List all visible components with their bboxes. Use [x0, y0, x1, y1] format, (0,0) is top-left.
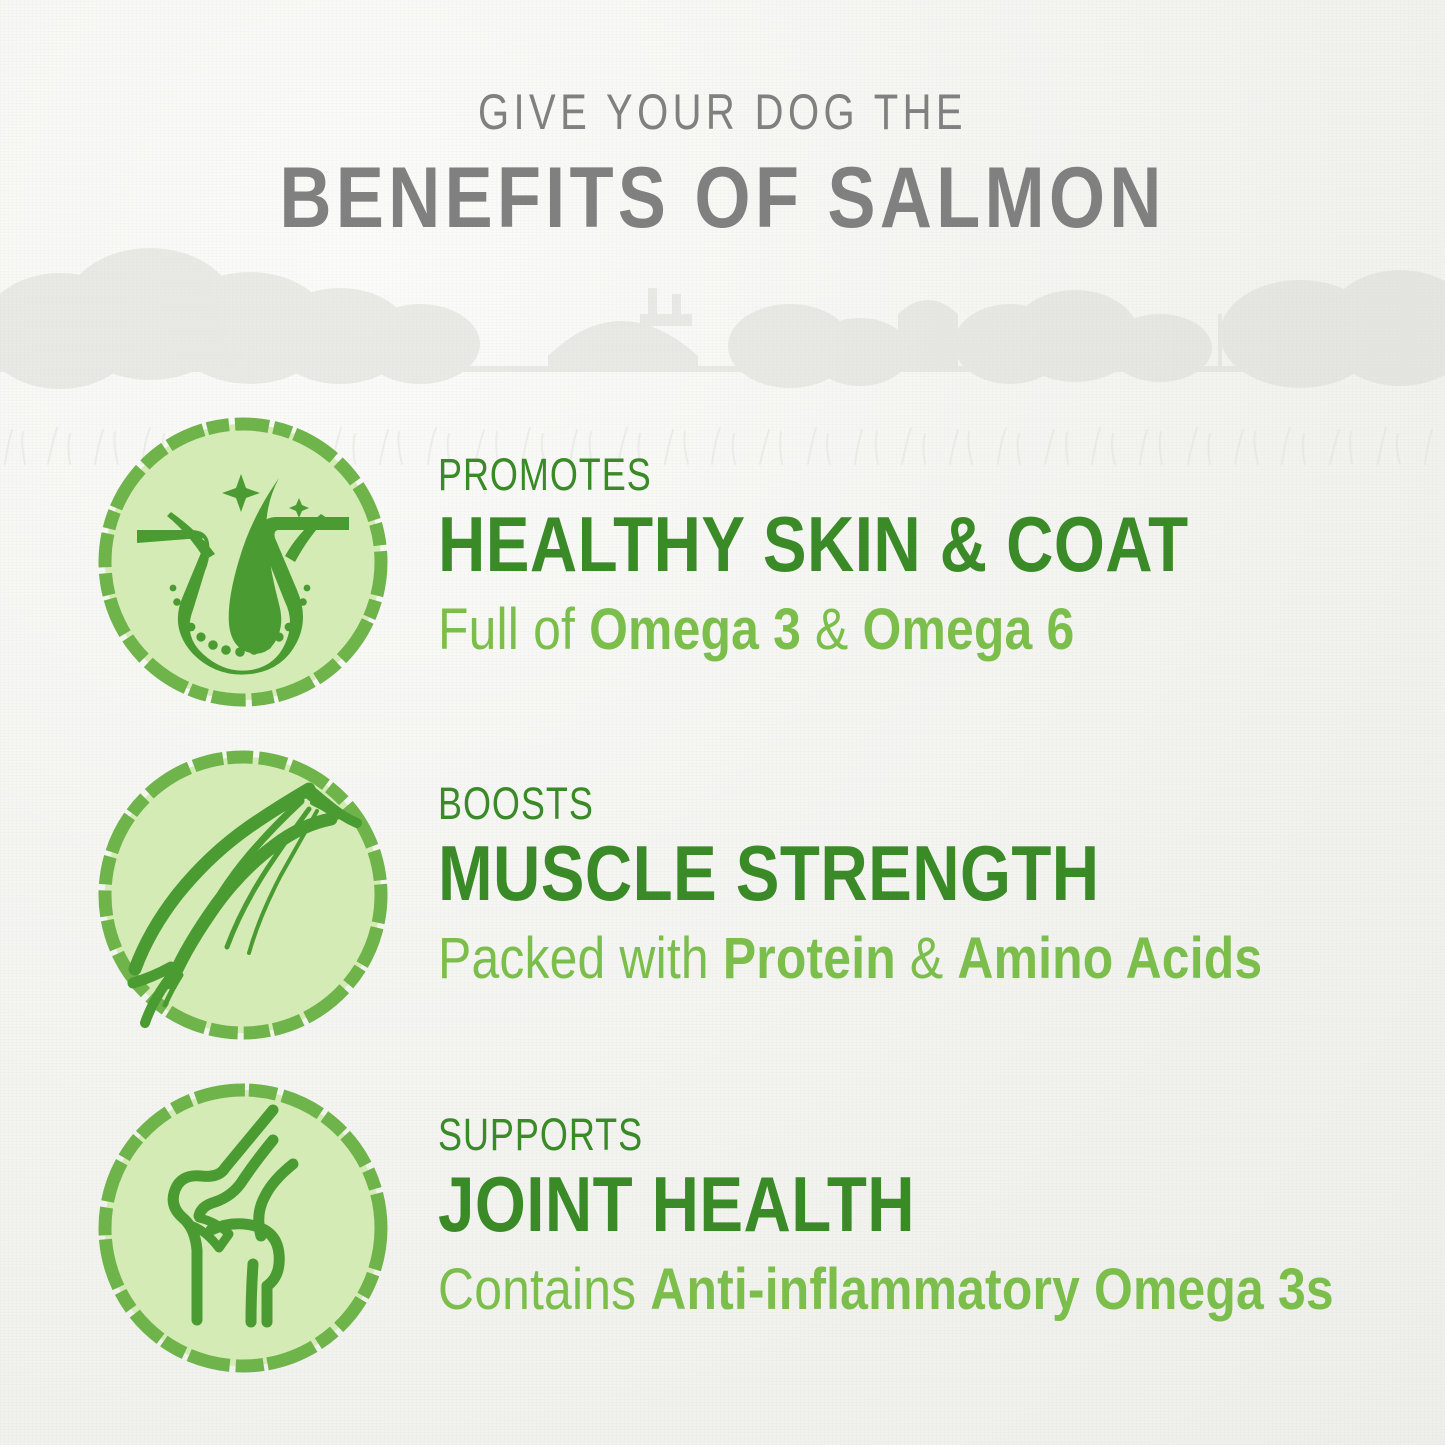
benefit-badge — [93, 412, 393, 712]
hair-follicle-icon — [93, 412, 393, 712]
knee-joint-icon — [93, 1078, 393, 1378]
title-line-1: GIVE YOUR DOG THE — [145, 84, 1301, 140]
benefit-subtitle: Packed with Protein & Amino Acids — [438, 927, 1289, 991]
benefit-subtitle: Contains Anti-inflammatory Omega 3s — [438, 1258, 1289, 1322]
farm-landscape-watermark — [0, 236, 1445, 436]
benefit-row: SUPPORTS JOINT HEALTH Contains Anti-infl… — [0, 1078, 1445, 1378]
benefit-row: BOOSTS MUSCLE STRENGTH Packed with Prote… — [0, 745, 1445, 1045]
benefit-copy: SUPPORTS JOINT HEALTH Contains Anti-infl… — [438, 1078, 1428, 1378]
title-line-2: BENEFITS OF SALMON — [116, 152, 1330, 244]
benefit-title: MUSCLE STRENGTH — [438, 831, 1270, 915]
benefit-badge — [93, 745, 393, 1045]
benefit-kicker: SUPPORTS — [438, 1110, 1230, 1160]
benefit-copy: PROMOTES HEALTHY SKIN & COAT Full of Ome… — [438, 412, 1428, 712]
benefit-copy: BOOSTS MUSCLE STRENGTH Packed with Prote… — [438, 745, 1428, 1045]
benefit-badge — [93, 1078, 393, 1378]
benefit-subtitle: Full of Omega 3 & Omega 6 — [438, 598, 1289, 662]
benefit-title: HEALTHY SKIN & COAT — [438, 502, 1270, 586]
benefit-kicker: PROMOTES — [438, 450, 1230, 500]
benefit-kicker: BOOSTS — [438, 779, 1230, 829]
benefit-title: JOINT HEALTH — [438, 1162, 1270, 1246]
benefits-infographic: GIVE YOUR DOG THE BENEFITS OF SALMON — [0, 0, 1445, 1445]
benefit-row: PROMOTES HEALTHY SKIN & COAT Full of Ome… — [0, 412, 1445, 712]
page-title: GIVE YOUR DOG THE BENEFITS OF SALMON — [0, 84, 1445, 244]
muscle-icon — [93, 745, 393, 1045]
